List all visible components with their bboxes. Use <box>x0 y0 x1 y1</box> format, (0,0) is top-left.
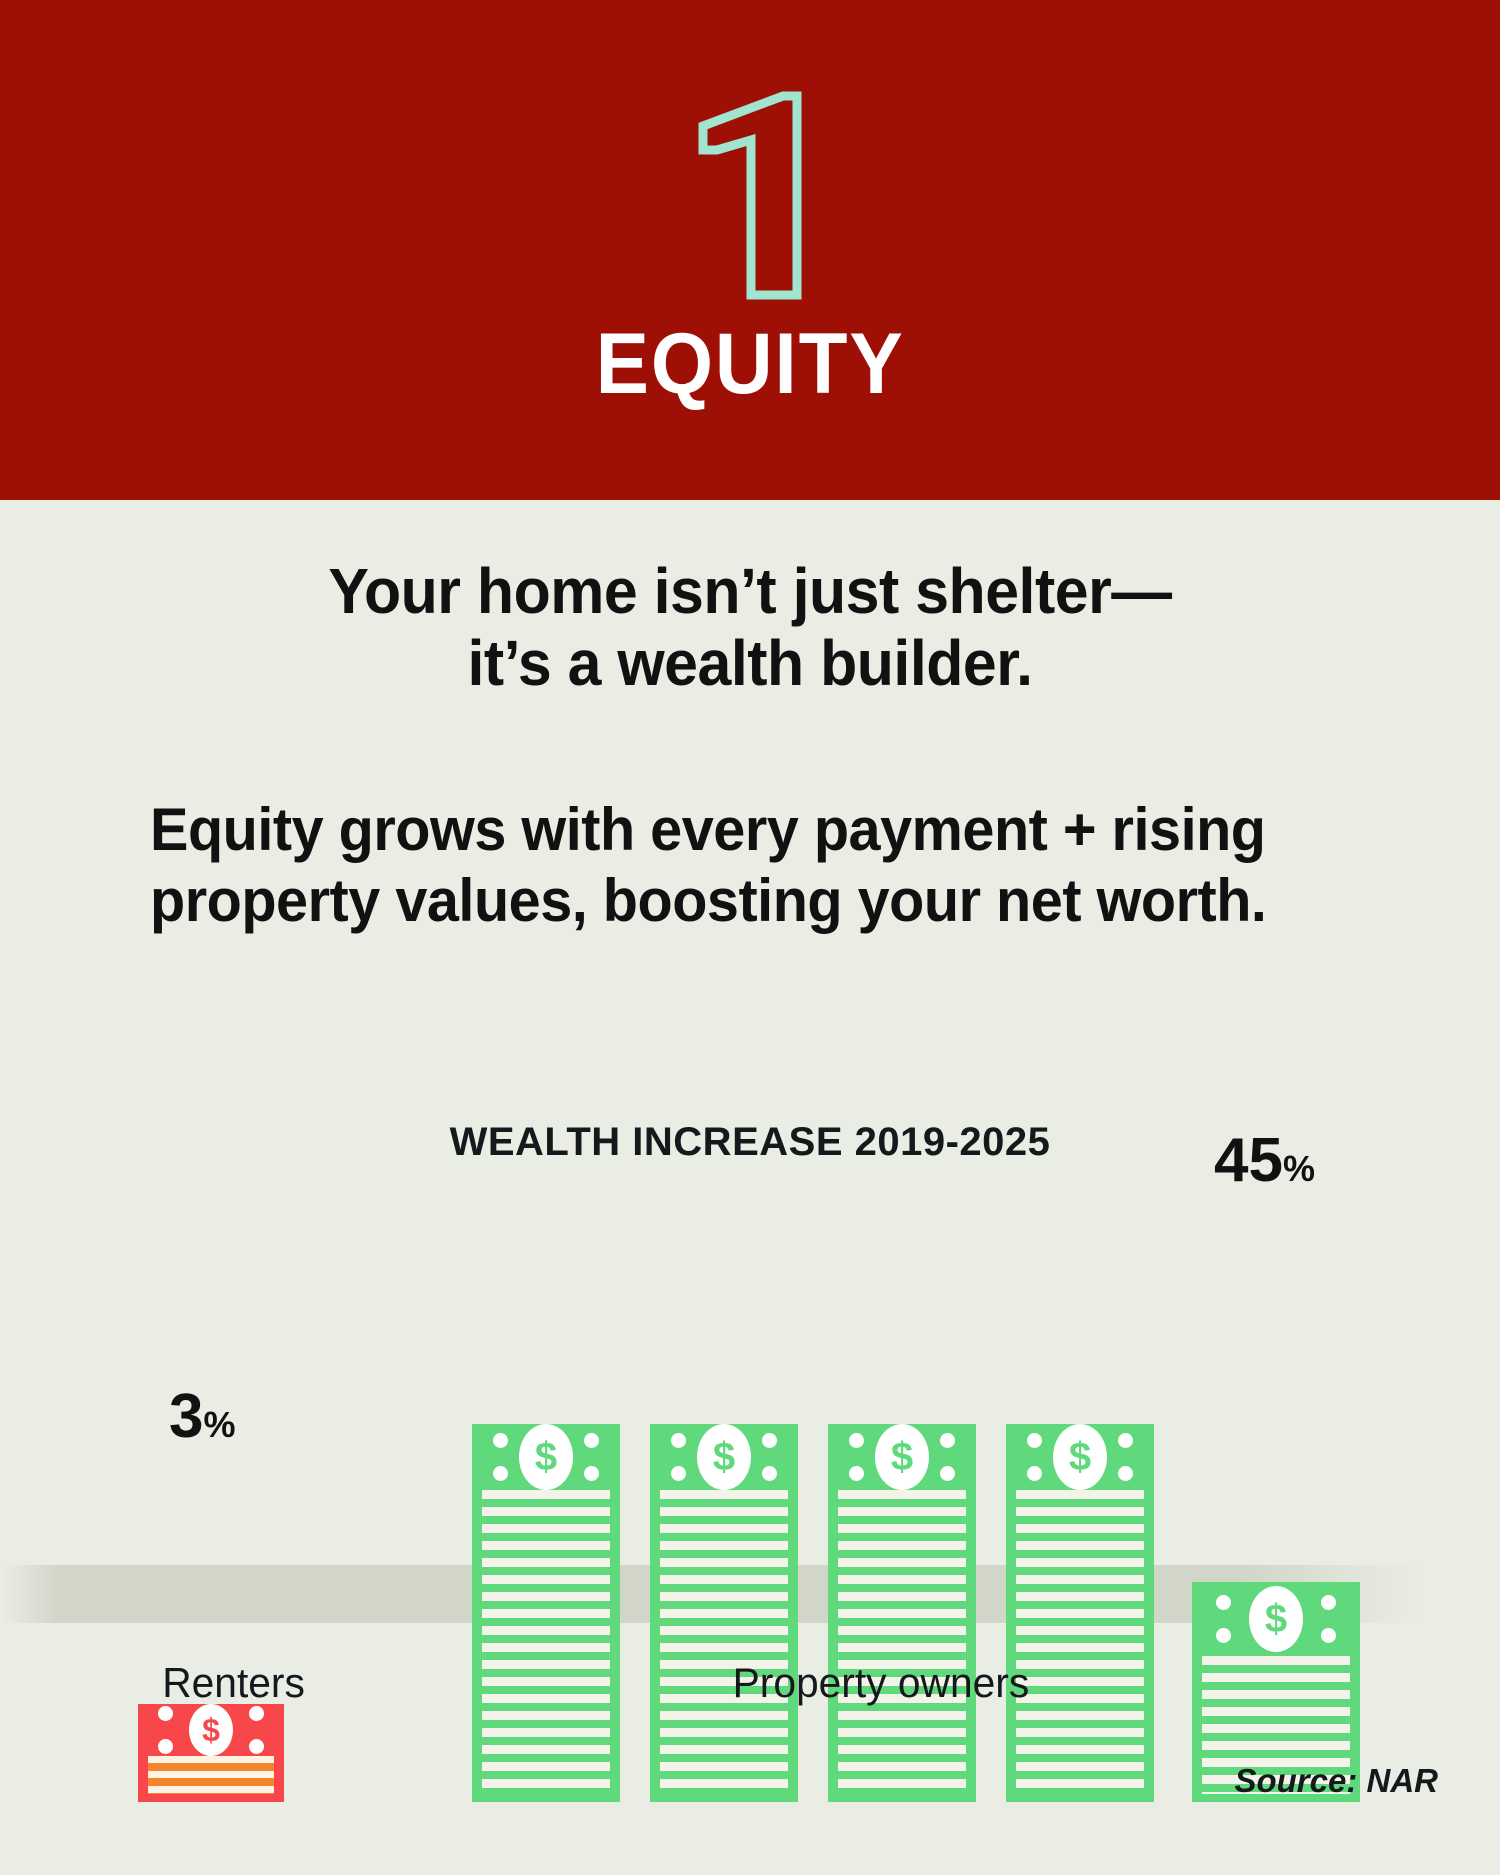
value-label-owners: 45% <box>1214 1130 1315 1192</box>
dot-column-left <box>1216 1595 1231 1643</box>
corner-dot-icon <box>1027 1433 1042 1448</box>
banknote-head: $ <box>1192 1582 1360 1656</box>
banknote-stripes <box>482 1490 610 1794</box>
corner-dot-icon <box>1118 1433 1133 1448</box>
dot-column-left <box>1027 1433 1042 1481</box>
banknote-head: $ <box>1006 1424 1154 1490</box>
corner-dot-icon <box>1321 1595 1336 1610</box>
corner-dot-icon <box>493 1433 508 1448</box>
banknote-stripes <box>148 1756 274 1794</box>
dot-column-left <box>493 1433 508 1481</box>
dot-column-right <box>584 1433 599 1481</box>
step-number-badge <box>685 88 815 303</box>
source-credit: Source: NAR <box>1234 1762 1438 1800</box>
corner-dot-icon <box>671 1466 686 1481</box>
dollar-coin-icon: $ <box>189 1704 233 1756</box>
bar-renters[interactable]: $ <box>138 1704 284 1802</box>
banknote-head: $ <box>138 1704 284 1756</box>
dollar-coin-icon: $ <box>875 1424 929 1490</box>
corner-dot-icon <box>940 1433 955 1448</box>
corner-dot-icon <box>849 1433 864 1448</box>
dot-column-left <box>158 1706 173 1754</box>
banknote-stripes <box>838 1490 966 1794</box>
corner-dot-icon <box>940 1466 955 1481</box>
dollar-coin-icon: $ <box>519 1424 573 1490</box>
corner-dot-icon <box>1027 1466 1042 1481</box>
corner-dot-icon <box>158 1706 173 1721</box>
headline-line-2: it’s a wealth builder. <box>38 627 1463 699</box>
corner-dot-icon <box>1321 1628 1336 1643</box>
dot-column-right <box>1321 1595 1336 1643</box>
numeral-one-outline-icon <box>685 88 815 303</box>
corner-dot-icon <box>849 1466 864 1481</box>
corner-dot-icon <box>584 1433 599 1448</box>
corner-dot-icon <box>249 1706 264 1721</box>
dot-column-right <box>1118 1433 1133 1481</box>
banknote-head: $ <box>650 1424 798 1490</box>
value-number-owners: 45 <box>1214 1126 1283 1195</box>
corner-dot-icon <box>493 1466 508 1481</box>
corner-dot-icon <box>584 1466 599 1481</box>
bar-owners-4[interactable]: $ <box>1006 1424 1154 1802</box>
headline-line-1: Your home isn’t just shelter— <box>38 555 1463 627</box>
bar-owners-2[interactable]: $ <box>650 1424 798 1802</box>
corner-dot-icon <box>1216 1595 1231 1610</box>
banknote-icon-green: $ <box>828 1424 976 1802</box>
infographic-page: EQUITY Your home isn’t just shelter— it’… <box>0 0 1500 1875</box>
bar-owners-3[interactable]: $ <box>828 1424 976 1802</box>
value-percent-renters: % <box>203 1404 235 1445</box>
corner-dot-icon <box>762 1466 777 1481</box>
banknote-icon-green: $ <box>1006 1424 1154 1802</box>
corner-dot-icon <box>1216 1628 1231 1643</box>
dot-column-left <box>849 1433 864 1481</box>
bar-owners-1[interactable]: $ <box>472 1424 620 1802</box>
value-percent-owners: % <box>1283 1148 1315 1189</box>
dot-column-right <box>940 1433 955 1481</box>
corner-dot-icon <box>671 1433 686 1448</box>
dollar-coin-icon: $ <box>697 1424 751 1490</box>
dollar-coin-icon: $ <box>1053 1424 1107 1490</box>
dot-column-left <box>671 1433 686 1481</box>
banknote-stripes <box>660 1490 788 1794</box>
banknote-stripes <box>1016 1490 1144 1794</box>
axis-label-owners: Property owners <box>733 1662 1030 1704</box>
value-label-renters: 3% <box>169 1386 236 1448</box>
header-banner: EQUITY <box>0 0 1500 500</box>
chart-area: 3% $ <box>0 1180 1500 1740</box>
dot-column-right <box>762 1433 777 1481</box>
corner-dot-icon <box>158 1739 173 1754</box>
banknote-icon-red: $ <box>138 1704 284 1802</box>
body-copy: Equity grows with every payment + rising… <box>150 795 1369 937</box>
banknote-head: $ <box>472 1424 620 1490</box>
corner-dot-icon <box>762 1433 777 1448</box>
dot-column-right <box>249 1706 264 1754</box>
corner-dot-icon <box>249 1739 264 1754</box>
badge-word: EQUITY <box>596 321 905 407</box>
corner-dot-icon <box>1118 1466 1133 1481</box>
axis-label-renters: Renters <box>162 1662 305 1704</box>
dollar-coin-icon: $ <box>1249 1586 1303 1652</box>
page-headline: Your home isn’t just shelter— it’s a wea… <box>38 555 1463 700</box>
banknote-icon-green: $ <box>650 1424 798 1802</box>
banknote-icon-green: $ <box>472 1424 620 1802</box>
banknote-head: $ <box>828 1424 976 1490</box>
value-number-renters: 3 <box>169 1382 203 1451</box>
